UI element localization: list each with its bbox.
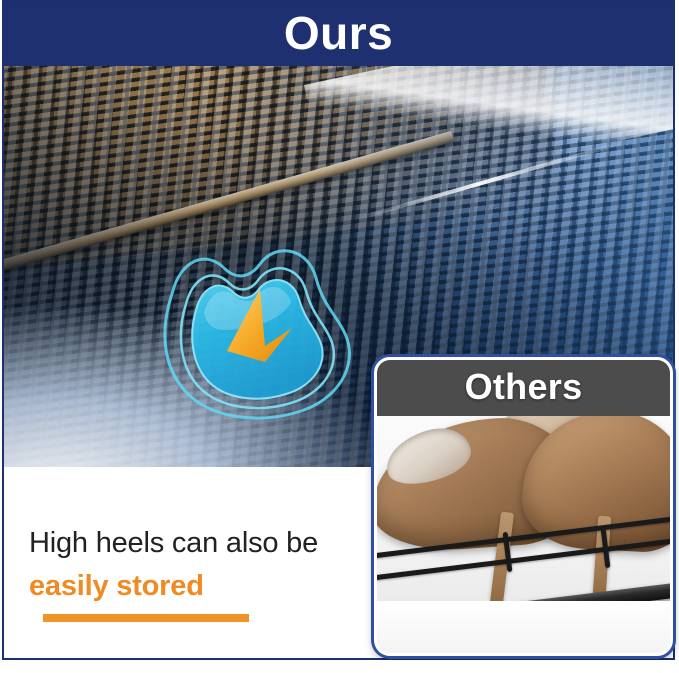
others-header-bar: Others [377, 360, 670, 416]
shield-check-icon [132, 234, 382, 434]
shoe-opening [380, 420, 476, 492]
others-title: Others [465, 369, 583, 405]
caption-line-highlight: easily stored [29, 570, 204, 603]
photo-floor [377, 601, 670, 653]
ours-header-bar: Ours [4, 2, 673, 66]
others-comparison-panel: Others [374, 357, 673, 656]
caption-underline-bar [43, 614, 249, 622]
ours-title: Ours [284, 10, 393, 56]
caption-line-primary: High heels can also be [29, 527, 318, 560]
others-product-photo [377, 416, 670, 653]
product-comparison-image: Ours [0, 0, 679, 673]
bottom-whitespace [0, 660, 679, 673]
